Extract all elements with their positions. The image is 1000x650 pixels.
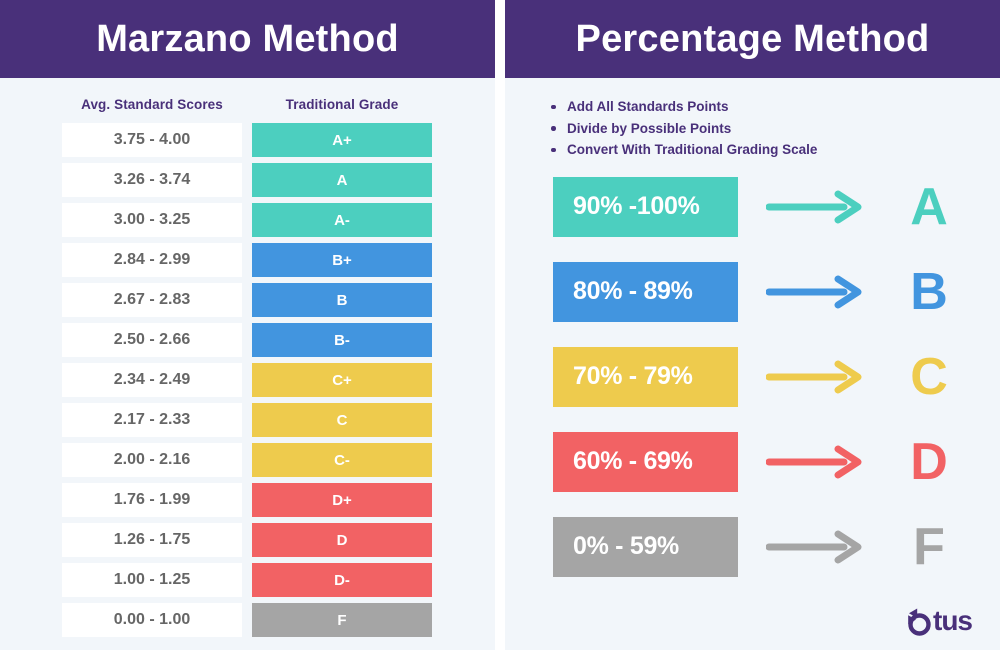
percentage-row: 80% - 89%B [553,262,1000,322]
score-range-cell: 3.26 - 3.74 [62,163,242,197]
marzano-row-list: 3.75 - 4.00A+3.26 - 3.74A3.00 - 3.25A-2.… [62,120,433,640]
score-range-cell: 2.84 - 2.99 [62,243,242,277]
traditional-grade-cell: C- [252,443,432,477]
marzano-column-headers: Avg. Standard Scores Traditional Grade [62,88,433,120]
percentage-row: 90% -100%A [553,177,1000,237]
table-row: 3.75 - 4.00A+ [62,120,433,160]
percentage-range-band: 70% - 79% [553,347,738,407]
table-row: 2.50 - 2.66B- [62,320,433,360]
score-range-cell: 2.50 - 2.66 [62,323,242,357]
traditional-grade-cell: B- [252,323,432,357]
table-row: 1.76 - 1.99D+ [62,480,433,520]
percentage-range-band: 60% - 69% [553,432,738,492]
letter-grade: C [884,351,974,403]
letter-grade: D [884,436,974,488]
percentage-row: 0% - 59%F [553,517,1000,577]
marzano-title: Marzano Method [96,20,399,58]
table-row: 3.00 - 3.25A- [62,200,433,240]
table-row: 3.26 - 3.74A [62,160,433,200]
letter-grade: F [884,521,974,573]
traditional-grade-cell: C [252,403,432,437]
arrow-right-icon [766,190,866,224]
traditional-grade-cell: D+ [252,483,432,517]
marzano-header: Marzano Method [0,0,495,78]
percentage-range-band: 90% -100% [553,177,738,237]
table-row: 2.00 - 2.16C- [62,440,433,480]
traditional-grade-cell: B+ [252,243,432,277]
table-row: 2.67 - 2.83B [62,280,433,320]
infographic-root: Marzano Method Avg. Standard Scores Trad… [0,0,1000,650]
letter-grade: B [884,266,974,318]
percentage-title: Percentage Method [576,20,930,58]
traditional-grade-cell: D [252,523,432,557]
arrow-right-icon [766,275,866,309]
percentage-row: 60% - 69%D [553,432,1000,492]
percentage-range-band: 0% - 59% [553,517,738,577]
percentage-step-item: Convert With Traditional Grading Scale [549,139,1000,161]
arrow-cell [756,360,876,394]
arrow-cell [756,530,876,564]
score-range-cell: 2.00 - 2.16 [62,443,242,477]
score-range-cell: 1.26 - 1.75 [62,523,242,557]
arrow-right-icon [766,530,866,564]
score-range-cell: 1.76 - 1.99 [62,483,242,517]
score-range-cell: 2.67 - 2.83 [62,283,242,317]
traditional-grade-cell: B [252,283,432,317]
otus-wordmark: tus [933,607,972,635]
traditional-grade-cell: F [252,603,432,637]
table-row: 1.00 - 1.25D- [62,560,433,600]
arrow-right-icon [766,445,866,479]
percentage-range-band: 80% - 89% [553,262,738,322]
table-row: 0.00 - 1.00F [62,600,433,640]
score-range-cell: 3.75 - 4.00 [62,123,242,157]
marzano-method-panel: Marzano Method Avg. Standard Scores Trad… [0,0,495,650]
panel-divider [495,0,505,650]
score-range-cell: 3.00 - 3.25 [62,203,242,237]
table-row: 2.17 - 2.33C [62,400,433,440]
column-header-grade: Traditional Grade [252,97,432,112]
percentage-steps-list: Add All Standards PointsDivide by Possib… [549,96,1000,161]
traditional-grade-cell: A+ [252,123,432,157]
score-range-cell: 2.34 - 2.49 [62,363,242,397]
percentage-method-panel: Percentage Method Add All Standards Poin… [505,0,1000,650]
score-range-cell: 1.00 - 1.25 [62,563,242,597]
arrow-cell [756,275,876,309]
traditional-grade-cell: A [252,163,432,197]
traditional-grade-cell: D- [252,563,432,597]
score-range-cell: 0.00 - 1.00 [62,603,242,637]
traditional-grade-cell: C+ [252,363,432,397]
otus-logo: tus [903,606,972,636]
table-row: 2.84 - 2.99B+ [62,240,433,280]
percentage-header: Percentage Method [505,0,1000,78]
percentage-step-item: Add All Standards Points [549,96,1000,118]
marzano-table: Avg. Standard Scores Traditional Grade 3… [0,88,495,640]
arrow-cell [756,190,876,224]
percentage-row: 70% - 79%C [553,347,1000,407]
percentage-step-item: Divide by Possible Points [549,118,1000,140]
column-header-scores: Avg. Standard Scores [62,97,242,112]
arrow-cell [756,445,876,479]
table-row: 2.34 - 2.49C+ [62,360,433,400]
letter-grade: A [884,181,974,233]
score-range-cell: 2.17 - 2.33 [62,403,242,437]
traditional-grade-cell: A- [252,203,432,237]
table-row: 1.26 - 1.75D [62,520,433,560]
otus-pinwheel-icon [903,606,933,636]
percentage-row-list: 90% -100%A80% - 89%B70% - 79%C60% - 69%D… [505,177,1000,577]
arrow-right-icon [766,360,866,394]
